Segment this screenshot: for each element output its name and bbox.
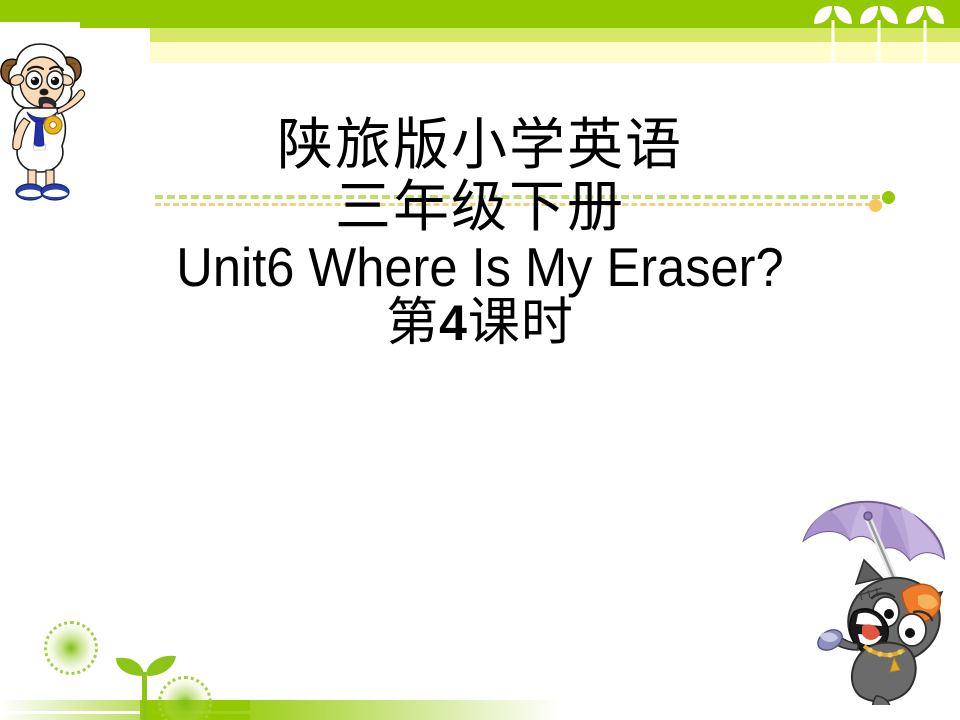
lesson-prefix: 第 <box>386 293 439 353</box>
title-line-publisher: 陕旅版小学英语 <box>0 118 960 180</box>
sprout-plant-icon <box>108 646 184 720</box>
lesson-number: 4 <box>439 295 468 351</box>
glow-circle-upper <box>44 621 98 675</box>
header-sprouts-group <box>812 0 944 64</box>
title-line-grade: 三年级下册 <box>0 180 960 240</box>
lesson-suffix: 课时 <box>468 293 574 353</box>
title-line-lesson: 第4课时 <box>0 297 960 349</box>
sprout-icon <box>906 6 944 64</box>
slide-canvas: 陕旅版小学英语 三年级下册 Unit6 Where Is My Eraser? … <box>0 0 960 720</box>
title-block: 陕旅版小学英语 三年级下册 Unit6 Where Is My Eraser? … <box>0 118 960 349</box>
sprout-icon <box>814 6 852 64</box>
title-line-unit: Unit6 Where Is My Eraser? <box>38 240 921 297</box>
sprout-icon <box>860 6 898 64</box>
big-big-wolf-mascot <box>790 500 958 705</box>
